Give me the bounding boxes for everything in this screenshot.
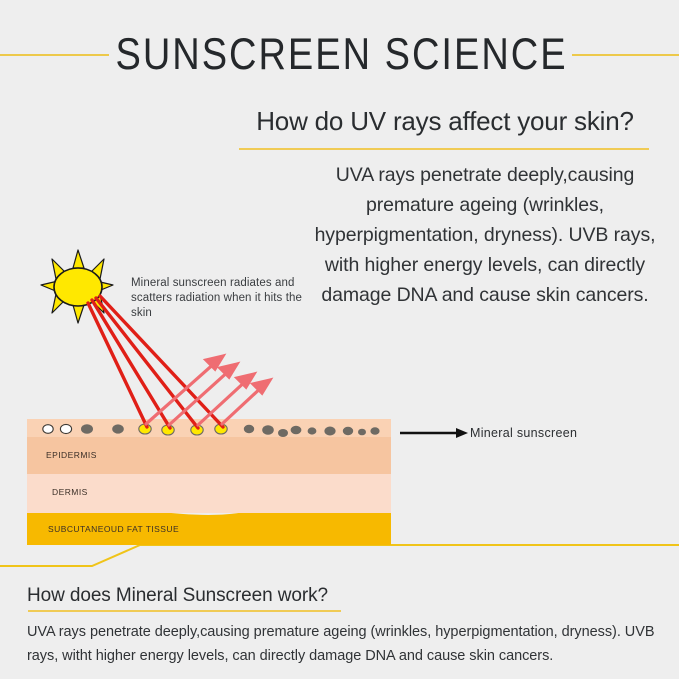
sun-body — [54, 268, 102, 306]
particle-grey — [370, 427, 379, 435]
title-block: SUNSCREEN SCIENCE — [0, 26, 679, 84]
infographic-canvas — [0, 0, 679, 679]
bottom-question: How does Mineral Sunscreen work? — [27, 585, 328, 607]
label-dermis: DERMIS — [52, 487, 88, 497]
particle-grey — [81, 424, 93, 434]
particle-grey — [112, 424, 124, 433]
title-rule-right — [572, 54, 679, 56]
intro-question: How do UV rays affect your skin? — [225, 106, 665, 137]
particle-hollow — [43, 425, 53, 434]
bottom-question-underline — [28, 610, 341, 612]
intro-question-underline — [239, 148, 649, 150]
mineral-sunscreen-label: Mineral sunscreen — [470, 426, 577, 440]
page-title: SUNSCREEN SCIENCE — [115, 33, 567, 78]
particle-grey — [262, 425, 274, 434]
particle-hollow — [60, 424, 71, 433]
particle-grey — [358, 429, 366, 436]
particle-grey — [308, 427, 317, 434]
sun-annotation-text: Mineral sunscreen radiates and scatters … — [131, 276, 311, 321]
title-rule-left — [0, 54, 109, 56]
label-subcutaneous-fat: SUBCUTANEOUD FAT TISSUE — [48, 524, 179, 534]
particle-grey — [278, 429, 288, 437]
page-background — [0, 0, 679, 679]
label-epidermis: EPIDERMIS — [46, 450, 97, 460]
particle-grey — [343, 427, 353, 435]
bottom-body: UVA rays penetrate deeply,causing premat… — [27, 620, 657, 668]
particle-grey — [291, 426, 302, 435]
particle-grey — [244, 425, 254, 433]
intro-body: UVA rays penetrate deeply,causing premat… — [300, 160, 670, 310]
particle-grey — [324, 427, 335, 436]
